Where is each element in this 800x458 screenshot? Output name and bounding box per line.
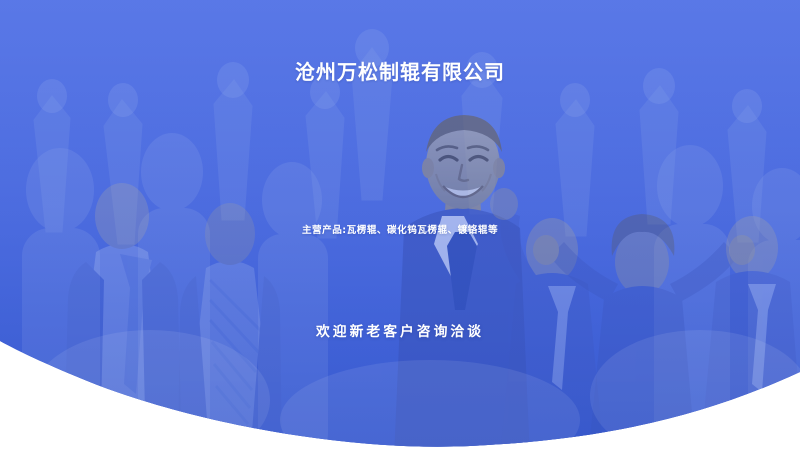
- welcome-slogan-text: 欢迎新老客户咨询洽谈: [0, 303, 800, 361]
- product-line-text: 主营产品:瓦楞辊、碳化钨瓦楞辊、镀铬辊等: [0, 211, 800, 251]
- company-banner: 沧州万松制辊有限公司 主营产品:瓦楞辊、碳化钨瓦楞辊、镀铬辊等 欢迎新老客户咨询…: [0, 0, 800, 458]
- company-name-heading: 沧州万松制辊有限公司: [0, 61, 800, 84]
- banner-text-layer: 沧州万松制辊有限公司 主营产品:瓦楞辊、碳化钨瓦楞辊、镀铬辊等 欢迎新老客户咨询…: [0, 0, 800, 458]
- blue-panel: 沧州万松制辊有限公司 主营产品:瓦楞辊、碳化钨瓦楞辊、镀铬辊等 欢迎新老客户咨询…: [0, 0, 800, 458]
